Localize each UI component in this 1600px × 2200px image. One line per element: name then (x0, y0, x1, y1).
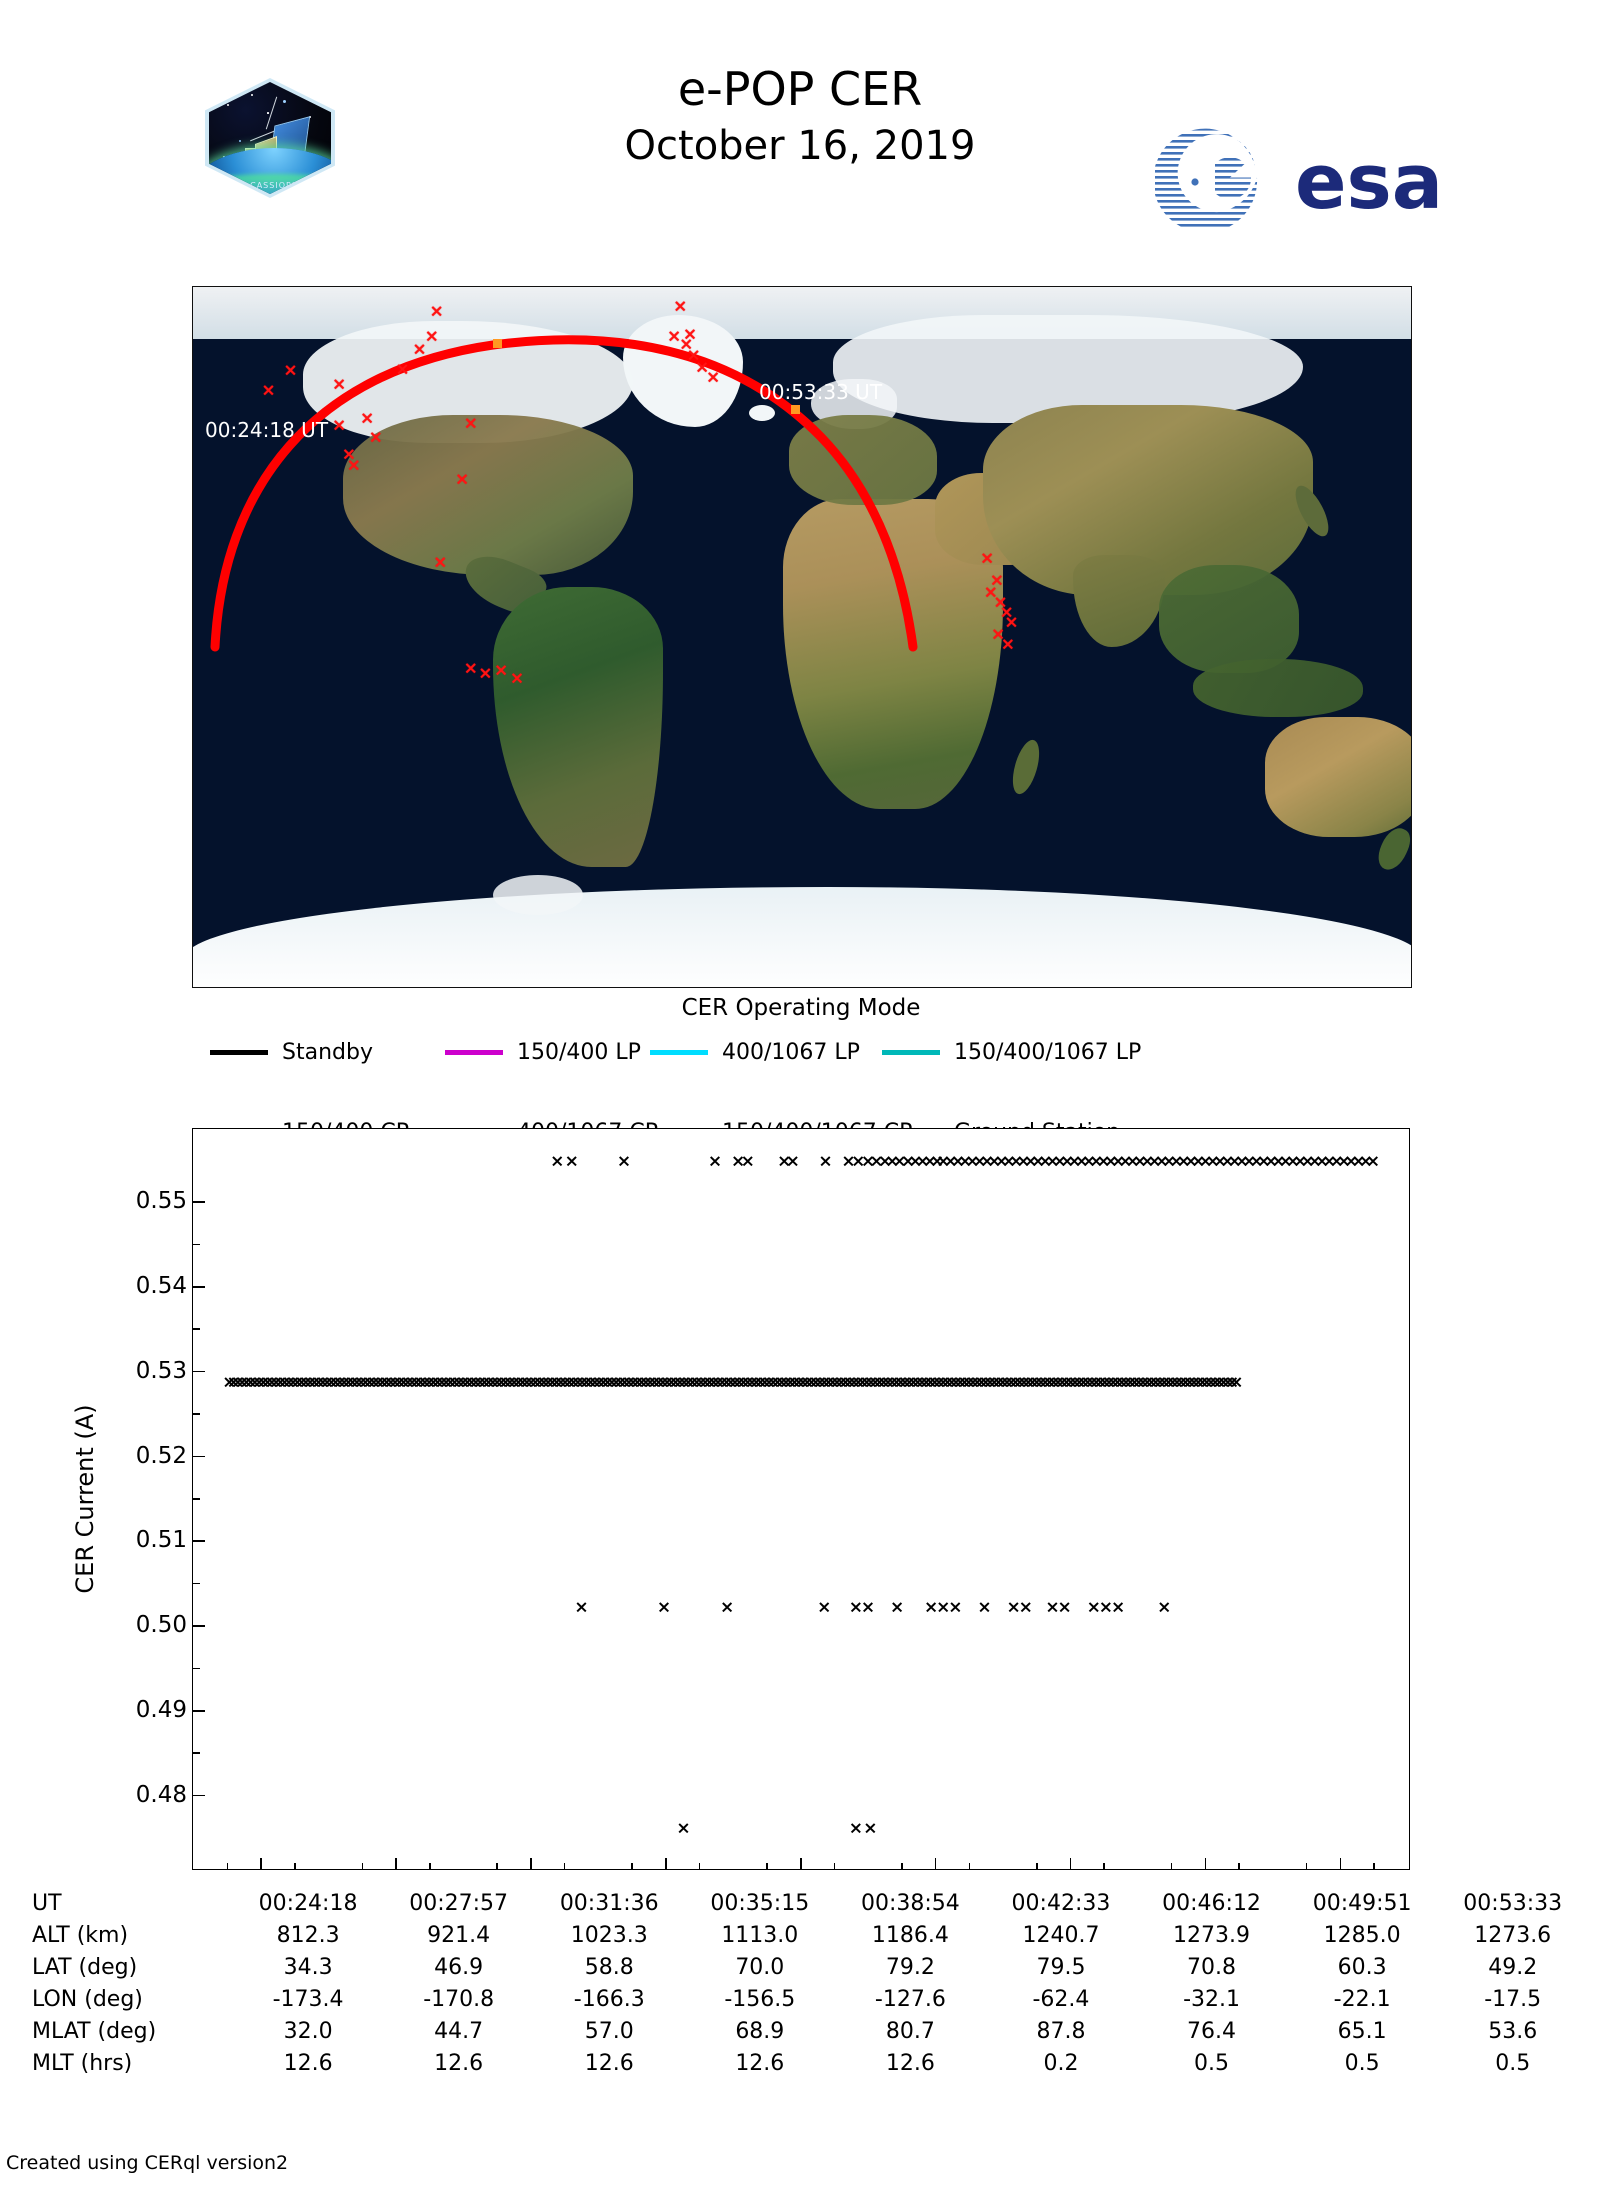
data-point: × (574, 1600, 588, 1617)
data-point: × (676, 1820, 690, 1837)
y-axis-tick (193, 1540, 205, 1542)
title-block: e-POP CER October 16, 2019 (400, 60, 1200, 174)
ground-station-marker: × (360, 410, 374, 427)
legend-item-standby[interactable]: Standby (210, 1040, 373, 1065)
ground-station-marker: × (347, 457, 361, 474)
data-point: × (786, 1154, 800, 1171)
table-cell: 79.5 (986, 1952, 1137, 1984)
y-axis-tick (193, 1625, 205, 1627)
table-cell: 53.6 (1437, 2016, 1588, 2048)
ground-station-marker: × (464, 416, 478, 433)
table-cell: 0.5 (1136, 2048, 1287, 2080)
table-cell: 12.6 (534, 2048, 685, 2080)
table-cell: 44.7 (383, 2016, 534, 2048)
x-axis-tick (1205, 1858, 1207, 1869)
table-cell: -170.8 (383, 1984, 534, 2016)
esa-inner-e (1215, 158, 1265, 197)
table-cell: 34.3 (233, 1952, 384, 1984)
ground-station-marker: × (425, 328, 439, 345)
x-axis-minor-tick (1306, 1863, 1308, 1869)
legend-item-150-400-1067-lp[interactable]: 150/400/1067 LP (882, 1040, 1141, 1065)
table-row: LAT (deg)34.346.958.870.079.279.570.860.… (28, 1952, 1588, 1984)
legend-item-400-1067-lp[interactable]: 400/1067 LP (650, 1040, 860, 1065)
table-row-label: LAT (deg) (28, 1952, 233, 1984)
footer-credit: Created using CERql version2 (6, 2152, 288, 2174)
ground-station-marker: × (332, 377, 346, 394)
data-point: × (977, 1600, 991, 1617)
table-row-label: MLAT (deg) (28, 2016, 233, 2048)
x-axis-minor-tick (969, 1863, 971, 1869)
table-cell: 1023.3 (534, 1920, 685, 1952)
table-cell: 12.6 (233, 2048, 384, 2080)
y-axis-tick (193, 1371, 205, 1373)
table-row: UT00:24:1800:27:5700:31:3600:35:1500:38:… (28, 1888, 1588, 1920)
table-cell: -156.5 (685, 1984, 836, 2016)
ut-start-label: 00:24:18 UT (205, 419, 328, 441)
x-axis-minor-tick (1171, 1863, 1173, 1869)
ground-station-marker: × (429, 304, 443, 321)
table-cell: -173.4 (233, 1984, 384, 2016)
orbit-parameter-table: UT00:24:1800:27:5700:31:3600:35:1500:38:… (28, 1888, 1588, 2080)
table-cell: 1186.4 (835, 1920, 986, 1952)
esa-dot (1191, 178, 1198, 185)
table-cell: 12.6 (835, 2048, 986, 2080)
data-point: × (741, 1154, 755, 1171)
legend-color-swatch (882, 1050, 940, 1055)
y-axis-tick-label: 0.50 (77, 1612, 187, 1638)
data-point: × (1019, 1600, 1033, 1617)
ut-end-label: 00:53:33 UT (759, 381, 882, 403)
page-title: e-POP CER (400, 60, 1200, 118)
table-cell: 79.2 (835, 1952, 986, 1984)
data-point: × (1157, 1600, 1171, 1617)
legend-color-swatch (210, 1050, 268, 1055)
y-axis-tick (193, 1710, 205, 1712)
y-axis-tick (193, 1286, 205, 1288)
x-axis-minor-tick (1103, 1863, 1105, 1869)
ground-station-marker: × (1001, 637, 1015, 654)
table-cell: 57.0 (534, 2016, 685, 2048)
plot-data-area: ××××××××××××××××××××××××××××××××××××××××… (193, 1129, 1409, 1869)
x-axis-minor-tick (631, 1863, 633, 1869)
ground-station-marker: × (283, 363, 297, 380)
legend-item-150-400-lp[interactable]: 150/400 LP (445, 1040, 641, 1065)
ground-station-marker: × (369, 429, 383, 446)
page-header: CASSIOPE e-POP CER October 16, 2019 (0, 0, 1600, 200)
table-cell: 1273.6 (1437, 1920, 1588, 1952)
x-axis-tick (1070, 1858, 1072, 1869)
legend-label: Standby (282, 1040, 373, 1065)
x-axis-tick (800, 1858, 802, 1869)
x-axis-minor-tick (834, 1863, 836, 1869)
legend-label: 150/400 LP (517, 1040, 641, 1065)
x-axis-minor-tick (564, 1863, 566, 1869)
table-cell: 00:38:54 (835, 1888, 986, 1920)
legend-label: 150/400/1067 LP (954, 1040, 1141, 1065)
table-cell: 00:42:33 (986, 1888, 1137, 1920)
table-cell: 00:46:12 (1136, 1888, 1287, 1920)
table-row: MLT (hrs)12.612.612.612.612.60.20.50.50.… (28, 2048, 1588, 2080)
table-row-label: LON (deg) (28, 1984, 233, 2016)
table-cell: 70.8 (1136, 1952, 1287, 1984)
table-cell: 921.4 (383, 1920, 534, 1952)
ground-station-marker: × (412, 342, 426, 359)
y-axis-minor-tick (193, 1413, 200, 1415)
data-point: × (849, 1820, 863, 1837)
cer-current-scatter-plot[interactable]: ××××××××××××××××××××××××××××××××××××××××… (192, 1128, 1410, 1870)
table-row: LON (deg)-173.4-170.8-166.3-156.5-127.6-… (28, 1984, 1588, 2016)
table-cell: 32.0 (233, 2016, 384, 2048)
y-axis-label: CER Current (A) (71, 1404, 99, 1593)
table-cell: 00:53:33 (1437, 1888, 1588, 1920)
ground-station-marker: × (478, 666, 492, 683)
table-cell: -62.4 (986, 1984, 1137, 2016)
ground-station-marker: × (980, 550, 994, 567)
table-cell: 68.9 (685, 2016, 836, 2048)
data-point: × (817, 1600, 831, 1617)
table-row-label: ALT (km) (28, 1920, 233, 1952)
ground-station-marker: × (706, 370, 720, 387)
ground-station-marker: × (673, 299, 687, 316)
x-axis-tick (260, 1858, 262, 1869)
table-cell: 46.9 (383, 1952, 534, 1984)
data-point: × (1366, 1154, 1380, 1171)
y-axis-minor-tick (193, 1583, 200, 1585)
table-cell: 1285.0 (1287, 1920, 1438, 1952)
y-axis-tick (193, 1795, 205, 1797)
y-axis-tick-label: 0.52 (77, 1443, 187, 1469)
table-cell: 49.2 (1437, 1952, 1588, 1984)
table-row-label: MLT (hrs) (28, 2048, 233, 2080)
data-point: × (1229, 1375, 1243, 1392)
table-cell: 70.0 (685, 1952, 836, 1984)
y-axis-tick-label: 0.51 (77, 1527, 187, 1553)
x-axis-minor-tick (766, 1863, 768, 1869)
data-point: × (818, 1154, 832, 1171)
table-cell: 00:35:15 (685, 1888, 836, 1920)
data-point: × (708, 1154, 722, 1171)
ground-station-marker: × (494, 662, 508, 679)
table-cell: 58.8 (534, 1952, 685, 1984)
ground-station-marker: × (332, 417, 346, 434)
ground-station-marker: × (667, 329, 681, 346)
y-axis-tick-label: 0.54 (77, 1273, 187, 1299)
ground-station-marker: × (683, 326, 697, 343)
esa-logo: esa (1155, 120, 1465, 235)
y-axis-minor-tick (193, 1752, 200, 1754)
table-cell: -127.6 (835, 1984, 986, 2016)
y-axis-tick (193, 1456, 205, 1458)
data-point: × (948, 1600, 962, 1617)
y-axis-minor-tick (193, 1498, 200, 1500)
table-cell: -166.3 (534, 1984, 685, 2016)
x-axis-tick (935, 1858, 937, 1869)
x-axis-minor-tick (496, 1863, 498, 1869)
table-cell: 812.3 (233, 1920, 384, 1952)
data-point: × (890, 1600, 904, 1617)
data-point: × (617, 1154, 631, 1171)
y-axis-minor-tick (193, 1328, 200, 1330)
table-cell: 76.4 (1136, 2016, 1287, 2048)
cassiope-mission-logo: CASSIOPE (205, 78, 335, 198)
legend-color-swatch (445, 1050, 503, 1055)
x-axis-minor-tick (699, 1863, 701, 1869)
legend-label: 400/1067 LP (722, 1040, 860, 1065)
data-point: × (861, 1600, 875, 1617)
ground-station-marker: × (261, 382, 275, 399)
x-axis-minor-tick (294, 1863, 296, 1869)
data-point: × (863, 1820, 877, 1837)
table-cell: 0.5 (1287, 2048, 1438, 2080)
legend: Standby150/400 LP400/1067 LP150/400/1067… (210, 1040, 1410, 1116)
y-axis-tick-label: 0.53 (77, 1358, 187, 1384)
table-cell: 60.3 (1287, 1952, 1438, 1984)
table-cell: 00:27:57 (383, 1888, 534, 1920)
x-axis-minor-tick (429, 1863, 431, 1869)
table-cell: 00:24:18 (233, 1888, 384, 1920)
data-point: × (1111, 1600, 1125, 1617)
x-axis-minor-tick (362, 1863, 364, 1869)
x-axis-tick (395, 1858, 397, 1869)
table-cell: 0.2 (986, 2048, 1137, 2080)
table-row-label: UT (28, 1888, 233, 1920)
x-axis-minor-tick (1373, 1863, 1375, 1869)
data-point: × (1058, 1600, 1072, 1617)
ground-station-marker: × (455, 472, 469, 489)
x-axis-minor-tick (227, 1863, 229, 1869)
esa-wordmark: esa (1295, 137, 1443, 226)
logo-caption: CASSIOPE (209, 181, 331, 190)
y-axis-tick (193, 1201, 205, 1203)
y-axis-tick-label: 0.48 (77, 1782, 187, 1808)
legend-row: 150/400 CP400/1067 CP150/400/1067 CP×Gro… (210, 1078, 1410, 1116)
table-cell: 87.8 (986, 2016, 1137, 2048)
table-cell: -17.5 (1437, 1984, 1588, 2016)
data-point: × (565, 1154, 579, 1171)
table-cell: 12.6 (685, 2048, 836, 2080)
table-cell: 80.7 (835, 2016, 986, 2048)
ground-station-marker: × (464, 660, 478, 677)
y-axis-tick-label: 0.49 (77, 1697, 187, 1723)
orbit-table: UT00:24:1800:27:5700:31:3600:35:1500:38:… (28, 1888, 1588, 2080)
data-point: × (550, 1154, 564, 1171)
x-axis-minor-tick (1238, 1863, 1240, 1869)
world-map-panel[interactable]: 00:24:18 UT 00:53:33 UT ××××××××××××××××… (192, 286, 1412, 988)
legend-row: Standby150/400 LP400/1067 LP150/400/1067… (210, 1040, 1410, 1078)
data-point: × (720, 1600, 734, 1617)
legend-color-swatch (650, 1050, 708, 1055)
y-axis-tick-label: 0.55 (77, 1188, 187, 1214)
x-axis-minor-tick (1036, 1863, 1038, 1869)
table-cell: 0.5 (1437, 2048, 1588, 2080)
table-cell: 1240.7 (986, 1920, 1137, 1952)
table-cell: 12.6 (383, 2048, 534, 2080)
table-row: ALT (km)812.3921.41023.31113.01186.41240… (28, 1920, 1588, 1952)
ground-station-marker: × (510, 671, 524, 688)
y-axis-minor-tick (193, 1668, 200, 1670)
logo-hex-inner: CASSIOPE (209, 82, 331, 194)
y-axis-minor-tick (193, 1244, 200, 1246)
table-cell: 65.1 (1287, 2016, 1438, 2048)
x-axis-minor-tick (901, 1863, 903, 1869)
ground-station-marker: × (1004, 615, 1018, 632)
table-cell: -32.1 (1136, 1984, 1287, 2016)
x-axis-tick (530, 1858, 532, 1869)
ground-station-marker: × (395, 361, 409, 378)
x-axis-tick (1340, 1858, 1342, 1869)
table-cell: -22.1 (1287, 1984, 1438, 2016)
page-date: October 16, 2019 (400, 118, 1200, 174)
table-cell: 1113.0 (685, 1920, 836, 1952)
table-cell: 00:49:51 (1287, 1888, 1438, 1920)
table-cell: 1273.9 (1136, 1920, 1287, 1952)
ground-station-marker: × (433, 554, 447, 571)
table-cell: 00:31:36 (534, 1888, 685, 1920)
x-axis-tick (665, 1858, 667, 1869)
data-point: × (657, 1600, 671, 1617)
legend-title: CER Operating Mode (192, 995, 1410, 1021)
table-row: MLAT (deg)32.044.757.068.980.787.876.465… (28, 2016, 1588, 2048)
